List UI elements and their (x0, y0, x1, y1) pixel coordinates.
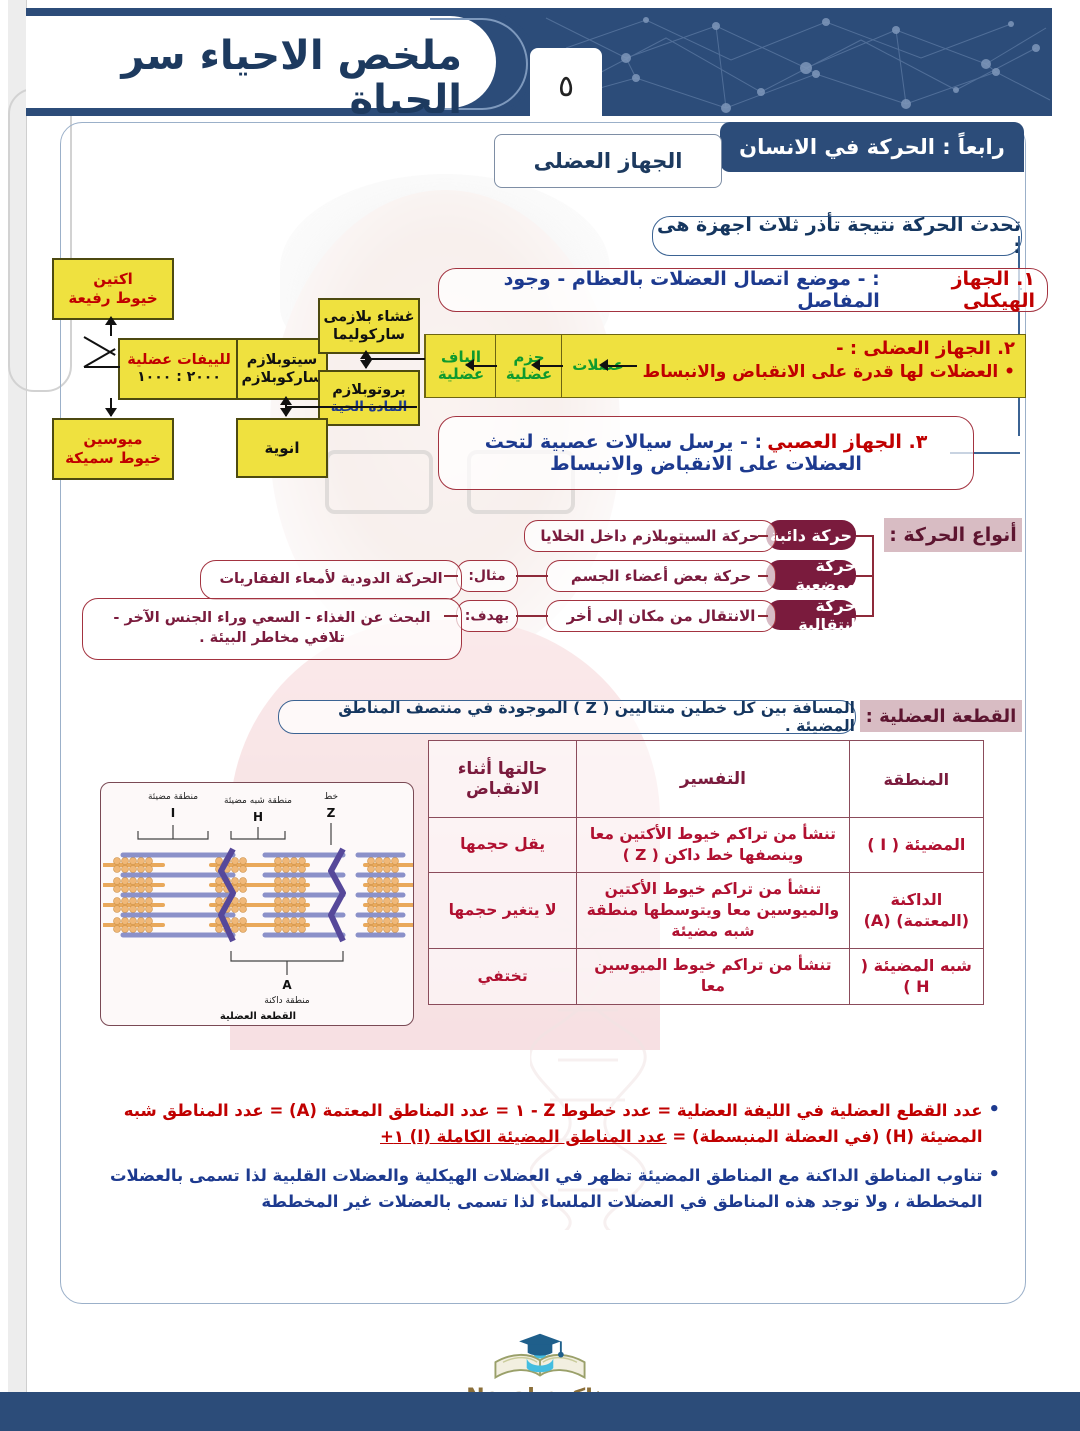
skeletal-system-text: : - موضع اتصال العضلات بالعظام - وجود ال… (451, 268, 880, 312)
plasma-membrane-title: غشاء بلازمى (324, 308, 415, 326)
myofibrils-ratio: ٢٠٠٠ : ١٠٠٠ (137, 369, 221, 387)
link-badge3-desc3 (758, 615, 768, 617)
row2-state: لا يتغير حجمها (429, 872, 577, 948)
movement-types-label: أنواع الحركة : (884, 518, 1022, 552)
actin-subtitle: خيوط رفيعة (68, 289, 157, 308)
chain-arrow-head-2 (531, 359, 540, 371)
arrow-myosin-down (105, 408, 117, 417)
muscular-system-text: • العضلات لها قدرة على الانقباض والانبسا… (625, 361, 1015, 384)
nuclei-box: انوية (236, 418, 328, 478)
nervous-system-box: ٣. الجهاز العصبي : - يرسل سيالات عصبية ل… (438, 416, 974, 490)
svg-text:منطقة شبه مضيئة: منطقة شبه مضيئة (224, 796, 292, 806)
row1-state: يقل حجمها (429, 818, 577, 873)
chain-arrow-head-3 (599, 359, 608, 371)
header-banner: ملخص الاحياء سر الحياة ٥ (26, 8, 1052, 116)
row1-zone: المضيئة ( I ) (849, 818, 983, 873)
link-tag2 (516, 615, 548, 617)
svg-text:A: A (282, 978, 292, 992)
svg-text:I: I (171, 806, 175, 820)
cytoplasm-box: سيتوبلازم ساركوبلازم (236, 338, 328, 400)
movement-tick-1 (856, 535, 874, 537)
sarcomere-label: القطعة العضلية : (860, 700, 1022, 732)
movement-tick-2 (856, 575, 874, 577)
muscular-system-label: ٢. الجهاز العضلى : - (625, 337, 1015, 361)
muscular-system-text-wrap: ٢. الجهاز العضلى : - • العضلات لها قدرة … (625, 337, 1015, 384)
row2-zone: الداكنة (المعتمة) (A) (849, 872, 983, 948)
cytoplasm-subtitle: ساركوبلازم (242, 369, 323, 387)
table-row: الداكنة (المعتمة) (A) تنشأ من تراكم خيوط… (429, 872, 984, 948)
movement-badge-3: حركة انتقالية (766, 600, 856, 630)
row3-zone: شبه المضيئة ( H ) (849, 948, 983, 1004)
sarcomere-figure: منطقة مضيئة منطقة شبه مضيئة خط I H Z (100, 782, 414, 1026)
arrow-nuclei-up (280, 396, 292, 405)
arrow-actin-up (105, 316, 117, 325)
nervous-system-label: ٣. الجهاز العصبي (767, 431, 927, 453)
intro-statement: تحدث الحركة نتيجة تأذر ثلاث اجهزة هى : (652, 216, 1022, 256)
link-note1 (444, 575, 458, 577)
row2-explanation: تنشأ من تراكم خيوط الأكتين والميوسين معا… (577, 872, 849, 948)
plasma-membrane-subtitle: ساركوليما (333, 326, 405, 344)
skeletal-system-label: ١. الجهاز الهيكلى (886, 268, 1035, 312)
muscular-system-band: ٢. الجهاز العضلى : - • العضلات لها قدرة … (424, 334, 1026, 398)
bullet-icon: • (988, 1098, 1000, 1121)
svg-text:منطقة مضيئة: منطقة مضيئة (148, 792, 198, 802)
skeletal-system-box: ١. الجهاز الهيكلى : - موضع اتصال العضلات… (438, 268, 1048, 312)
table-header-row: المنطقة التفسير حالتها أثناء الانقباض (429, 741, 984, 818)
link-note2 (444, 615, 458, 617)
connector-fork-stem (84, 366, 120, 368)
protoplasm-box: بروتوبلازم المادة الحية (318, 370, 420, 426)
link-badge1-desc1 (758, 535, 768, 537)
section-title: رابعاً : الحركة في الانسان (720, 122, 1024, 172)
graduation-book-icon (485, 1330, 595, 1385)
chain-arrow-line-2 (537, 365, 563, 367)
table-header-zone: المنطقة (849, 741, 983, 818)
arrow-membrane-down (360, 360, 372, 369)
svg-text:القطعة العضلية: القطعة العضلية (220, 1011, 296, 1022)
row1-explanation: تنشأ من تراكم خيوط الأكتين معا وينصفها خ… (577, 818, 849, 873)
protoplasm-title: بروتوبلازم (332, 381, 405, 399)
movement-desc-1: حركة السيتوبلازم داخل الخلايا (524, 520, 776, 552)
movement-tag-purpose: بهدف: (456, 600, 518, 632)
row3-explanation: تنشأ من تراكم خيوط الميوسين معا (577, 948, 849, 1004)
note-1-part2: عدد المناطق المضيئة الكاملة (I) ١+ (380, 1127, 667, 1146)
page-title: ملخص الاحياء سر الحياة (62, 34, 462, 116)
note-2: • تناوب المناطق الداكنة مع المناطق المضي… (80, 1163, 1000, 1214)
movement-badge-1: حركة دائبة (766, 520, 856, 550)
sarcomere-diagram-icon: منطقة مضيئة منطقة شبه مضيئة خط I H Z (103, 783, 413, 1023)
chain-arrow-line-1 (471, 365, 497, 367)
page-number-tab: ٥ (530, 48, 602, 116)
myosin-box: ميوسين خيوط سميكة (52, 418, 174, 480)
arrow-nuclei-down (280, 408, 292, 417)
myofibrils-box: للييفات عضلية ٢٠٠٠ : ١٠٠٠ (118, 338, 238, 400)
section-subtitle: الجهاز العضلى (494, 134, 722, 188)
actin-title: اكتين (93, 270, 133, 289)
table-row: المضيئة ( I ) تنشأ من تراكم خيوط الأكتين… (429, 818, 984, 873)
myosin-subtitle: خيوط سميكة (65, 449, 161, 468)
table-row: شبه المضيئة ( H ) تنشأ من تراكم خيوط الم… (429, 948, 984, 1004)
movement-desc-2: حركة بعض أعضاء الجسم (546, 560, 776, 592)
sarcomere-definition: المسافة بين كل خطين متتاليين ( Z ) الموج… (278, 700, 856, 734)
movement-tag-example: مثال: (456, 560, 518, 592)
nuclei-title: انوية (265, 439, 300, 458)
svg-text:خط: خط (324, 792, 338, 802)
bullet-icon: • (988, 1163, 1000, 1186)
myofibrils-title: للييفات عضلية (127, 351, 231, 369)
footer-bar (0, 1392, 1080, 1431)
svg-text:منطقة داكنة: منطقة داكنة (264, 996, 310, 1006)
connector-nuclei-h (287, 406, 417, 408)
table-header-state: حالتها أثناء الانقباض (429, 741, 577, 818)
chain-arrow-line-3 (605, 365, 637, 367)
table-header-explanation: التفسير (577, 741, 849, 818)
note-2-text: تناوب المناطق الداكنة مع المناطق المضيئة… (80, 1163, 982, 1214)
actin-box: اكتين خيوط رفيعة (52, 258, 174, 320)
bottom-notes: • عدد القطع العضلية في الليفة العضلية = … (80, 1098, 1000, 1228)
link-tag1 (516, 575, 548, 577)
sarcomere-table: المنطقة التفسير حالتها أثناء الانقباض ال… (428, 740, 984, 1005)
plasma-membrane-box: غشاء بلازمى ساركوليما (318, 298, 420, 354)
row3-state: تختفي (429, 948, 577, 1004)
page-root: ملخص الاحياء سر الحياة ٥ رابعاً : الحركة… (0, 0, 1080, 1431)
connector-membrane-h (367, 358, 425, 360)
svg-text:Z: Z (327, 806, 336, 820)
svg-text:H: H (253, 810, 263, 824)
chain-arrow-head-1 (465, 359, 474, 371)
cytoplasm-title: سيتوبلازم (247, 351, 318, 369)
movement-desc-3: الانتقال من مكان إلى أخر (546, 600, 776, 632)
movement-badge-2: حركة موضعية (766, 560, 856, 590)
movement-note-purpose: البحث عن الغذاء - السعي وراء الجنس الآخر… (82, 598, 462, 660)
movement-note-example: الحركة الدودية لأمعاء الفقاريات (200, 560, 462, 600)
myosin-title: ميوسين (83, 430, 142, 449)
movement-tick-3 (856, 615, 874, 617)
note-1: • عدد القطع العضلية في الليفة العضلية = … (80, 1098, 1000, 1149)
link-badge2-desc2 (758, 575, 768, 577)
